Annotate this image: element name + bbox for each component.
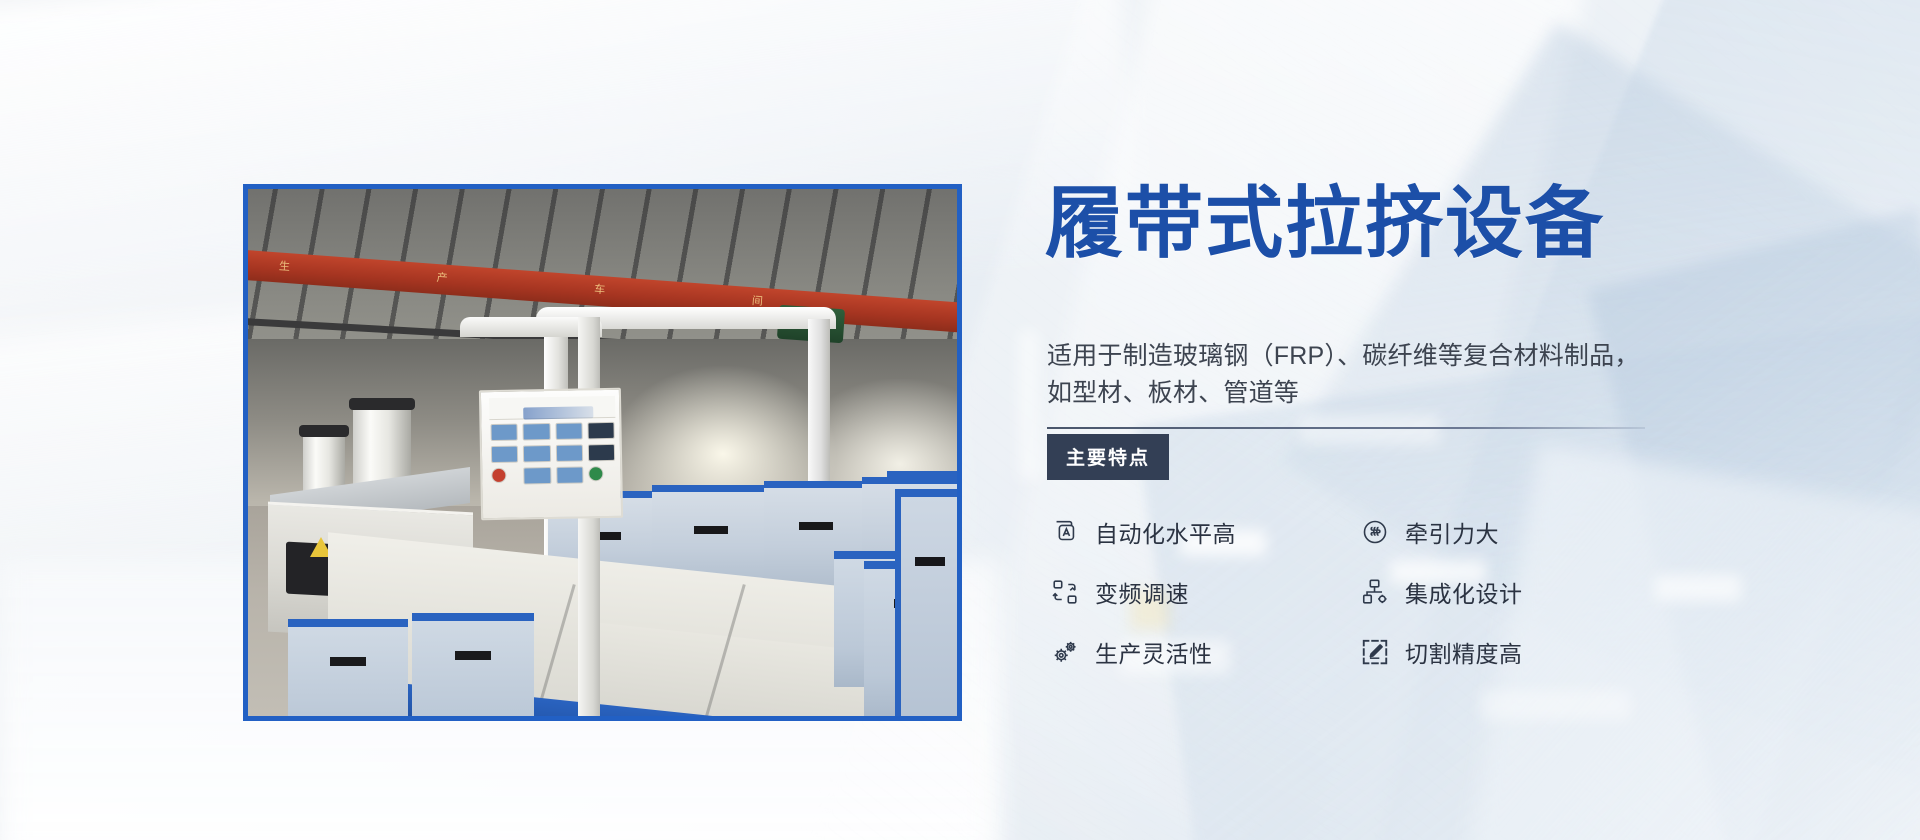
panel-gauge xyxy=(556,466,584,483)
panel-gauge xyxy=(523,467,551,484)
feature-list: 自动化水平高 牵引力大 xyxy=(1049,502,1689,682)
spring-coil-circle-icon xyxy=(1359,516,1391,548)
feature-label: 牵引力大 xyxy=(1405,515,1499,549)
equipment-cabinet-lower xyxy=(288,619,408,716)
hero-content: 履带式拉挤设备 适用于制造玻璃钢（FRP）、碳纤维等复合材料制品，如型材、板材、… xyxy=(1045,0,1905,840)
control-panel-dials xyxy=(490,422,615,485)
feature-item-integrated-design: 集成化设计 xyxy=(1359,575,1669,609)
panel-gauge xyxy=(588,444,616,461)
control-panel-logo xyxy=(523,406,593,419)
sitemap-gear-icon xyxy=(1359,576,1391,608)
equipment-cabinet-right xyxy=(895,489,957,716)
pen-dashed-box-icon xyxy=(1359,636,1391,668)
cabinet-vent xyxy=(330,657,366,666)
cabinet-vent xyxy=(799,522,833,530)
feature-label: 切割精度高 xyxy=(1405,635,1523,669)
panel-gauge xyxy=(491,446,519,463)
key-features-badge: 主要特点 xyxy=(1047,434,1169,480)
transfer-nodes-icon xyxy=(1049,576,1081,608)
panel-gauge xyxy=(555,444,583,461)
panel-indicator-green xyxy=(588,466,603,481)
feature-label: 自动化水平高 xyxy=(1095,515,1236,549)
page-title: 履带式拉挤设备 xyxy=(1045,184,1605,262)
feature-item-vfd-speed: 变频调速 xyxy=(1049,575,1359,609)
panel-gauge xyxy=(555,422,583,439)
panel-gauge xyxy=(587,422,615,439)
section-divider xyxy=(1047,427,1645,429)
product-hero-banner: 生 产 车 间 xyxy=(0,0,1920,840)
feature-item-traction: 牵引力大 xyxy=(1359,515,1669,549)
hero-subtitle: 适用于制造玻璃钢（FRP）、碳纤维等复合材料制品，如型材、板材、管道等 xyxy=(1047,338,1651,412)
panel-indicator-red xyxy=(491,468,506,483)
cabinet-vent xyxy=(694,526,728,534)
background-blur-block xyxy=(1018,330,1040,480)
panel-gauge xyxy=(523,423,551,440)
control-panel-header xyxy=(489,396,615,420)
product-photo: 生 产 车 间 xyxy=(243,184,962,721)
feature-label: 集成化设计 xyxy=(1405,575,1523,609)
cabinet-vent xyxy=(455,651,491,660)
panel-gauge xyxy=(523,445,551,462)
gears-icon xyxy=(1049,636,1081,668)
cabinet-rail xyxy=(887,471,957,480)
equipment-cabinet-lower xyxy=(412,613,534,716)
letter-a-card-icon xyxy=(1049,516,1081,548)
feature-label: 变频调速 xyxy=(1095,575,1189,609)
feature-item-cutting-precision: 切割精度高 xyxy=(1359,635,1669,669)
feature-item-automation: 自动化水平高 xyxy=(1049,515,1359,549)
cabinet-vent xyxy=(915,557,945,566)
control-panel xyxy=(479,388,623,520)
feature-item-flexibility: 生产灵活性 xyxy=(1049,635,1359,669)
product-photo-image: 生 产 车 间 xyxy=(248,189,957,716)
panel-gauge xyxy=(490,424,518,441)
feature-label: 生产灵活性 xyxy=(1095,635,1213,669)
